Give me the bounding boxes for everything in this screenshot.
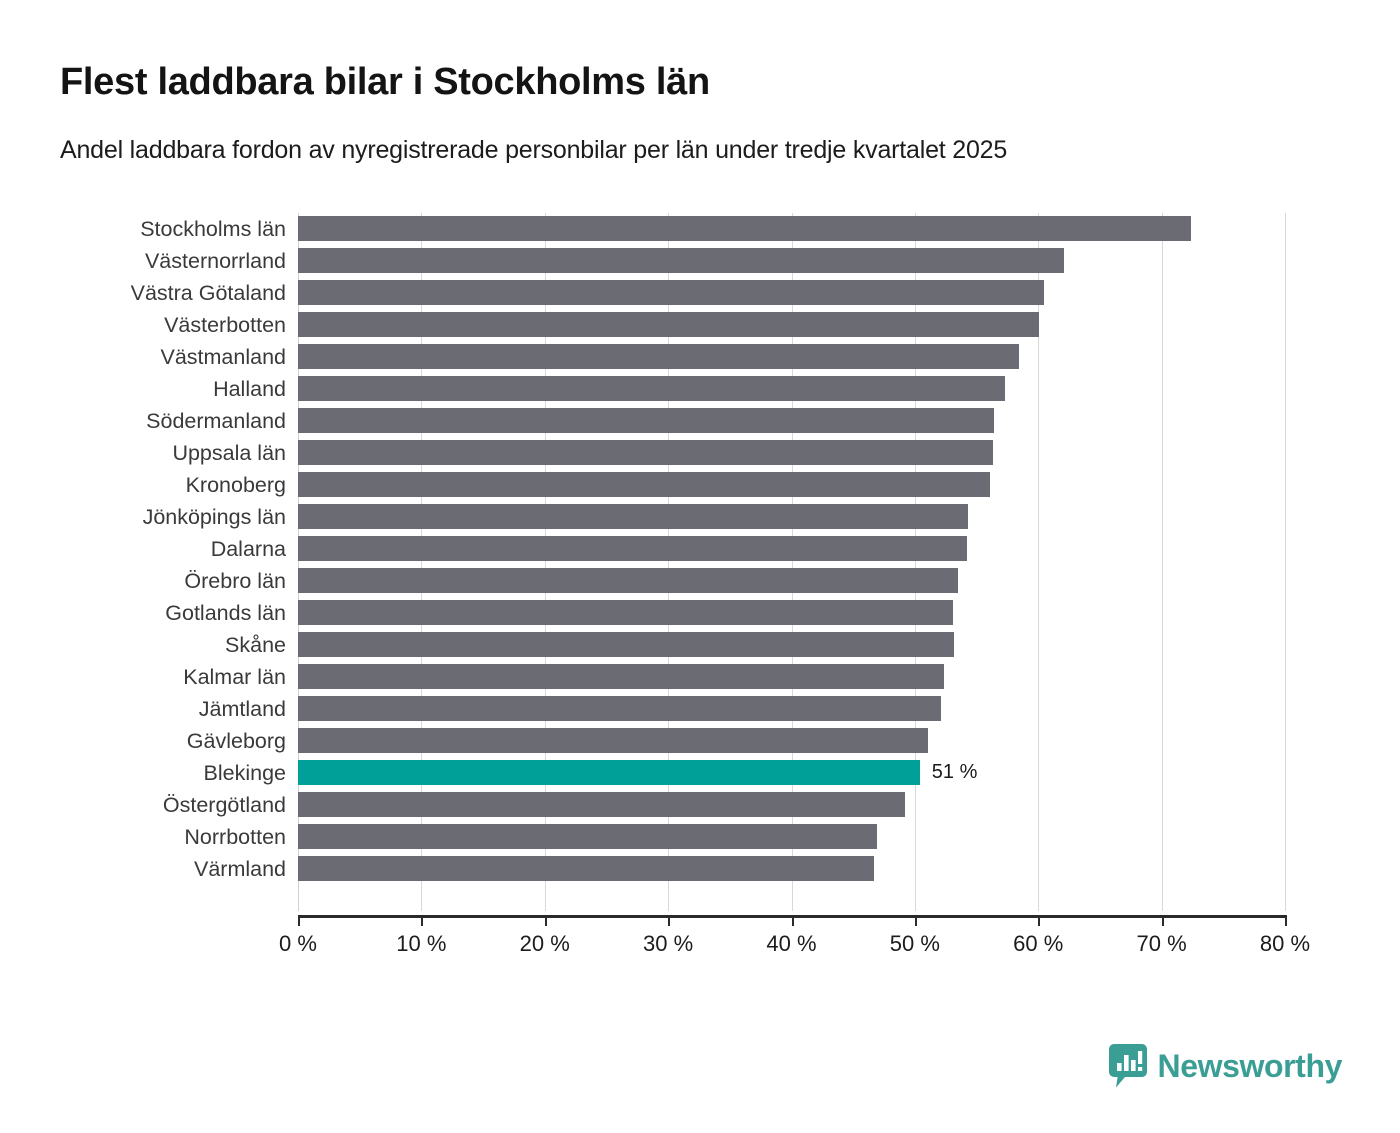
- logo-wordmark: Newsworthy: [1158, 1050, 1343, 1082]
- newsworthy-logo: Newsworthy: [1109, 1044, 1343, 1088]
- chart-bubble-icon: [1109, 1044, 1147, 1088]
- y-axis-tick-label: Kalmar län: [60, 661, 286, 693]
- bar-highlighted[interactable]: [298, 760, 920, 785]
- y-axis-tick-label: Jämtland: [60, 693, 286, 725]
- tick-mark: [668, 915, 670, 926]
- bar[interactable]: [298, 696, 941, 721]
- bar[interactable]: [298, 504, 968, 529]
- y-axis-tick-label: Gotlands län: [60, 597, 286, 629]
- bar-series: 51 %: [298, 213, 1285, 911]
- bar-row[interactable]: [298, 597, 1285, 629]
- y-axis-tick-label: Jönköpings län: [60, 501, 286, 533]
- bar-row[interactable]: [298, 309, 1285, 341]
- bar-row[interactable]: [298, 501, 1285, 533]
- bar-row[interactable]: [298, 693, 1285, 725]
- bar-row[interactable]: [298, 405, 1285, 437]
- bar-row[interactable]: [298, 469, 1285, 501]
- y-axis-tick-label: Uppsala län: [60, 437, 286, 469]
- y-axis-tick-label: Södermanland: [60, 405, 286, 437]
- page-title: Flest laddbara bilar i Stockholms län: [60, 62, 1350, 104]
- tick-mark: [1038, 915, 1040, 926]
- bar[interactable]: [298, 824, 877, 849]
- y-axis-tick-label: Skåne: [60, 629, 286, 661]
- x-axis-tick-label: 80 %: [1260, 931, 1310, 957]
- bar[interactable]: [298, 632, 954, 657]
- y-axis-tick-label: Västernorrland: [60, 245, 286, 277]
- bar-row[interactable]: [298, 853, 1285, 885]
- bar-row[interactable]: [298, 661, 1285, 693]
- x-axis-tick-label: 20 %: [520, 931, 570, 957]
- y-axis-tick-label: Värmland: [60, 853, 286, 885]
- bar-value-label: 51 %: [932, 760, 978, 785]
- gridline: [1285, 213, 1286, 911]
- x-axis-ticks: 0 %10 %20 %30 %40 %50 %60 %70 %80 %: [298, 915, 1285, 975]
- bar[interactable]: [298, 440, 993, 465]
- y-axis-tick-label: Örebro län: [60, 565, 286, 597]
- bar-row[interactable]: [298, 245, 1285, 277]
- bar-row[interactable]: [298, 725, 1285, 757]
- bar-row[interactable]: [298, 341, 1285, 373]
- bar[interactable]: [298, 856, 874, 881]
- bar[interactable]: [298, 376, 1005, 401]
- y-axis-tick-label: Halland: [60, 373, 286, 405]
- tick-mark: [792, 915, 794, 926]
- bar-row[interactable]: [298, 629, 1285, 661]
- bar[interactable]: [298, 568, 958, 593]
- tick-mark: [545, 915, 547, 926]
- y-axis-tick-label: Västmanland: [60, 341, 286, 373]
- y-axis-tick-label: Kronoberg: [60, 469, 286, 501]
- bar-row[interactable]: [298, 373, 1285, 405]
- y-axis-tick-label: Stockholms län: [60, 213, 286, 245]
- bar[interactable]: [298, 312, 1039, 337]
- y-axis-tick-label: Västra Götaland: [60, 277, 286, 309]
- bar[interactable]: [298, 472, 990, 497]
- y-axis-tick-label: Dalarna: [60, 533, 286, 565]
- y-axis-tick-label: Östergötland: [60, 789, 286, 821]
- x-axis-tick-label: 50 %: [890, 931, 940, 957]
- bar[interactable]: [298, 216, 1191, 241]
- bar-row[interactable]: [298, 789, 1285, 821]
- bar[interactable]: [298, 408, 994, 433]
- x-axis-tick-label: 60 %: [1013, 931, 1063, 957]
- bar-row[interactable]: [298, 533, 1285, 565]
- chart-plot-area: Stockholms länVästernorrlandVästra Götal…: [0, 213, 1400, 933]
- bar-row[interactable]: [298, 437, 1285, 469]
- tick-mark: [1285, 915, 1287, 926]
- x-axis-tick-label: 40 %: [766, 931, 816, 957]
- bar-row[interactable]: [298, 821, 1285, 853]
- bar-row[interactable]: 51 %: [298, 757, 1285, 789]
- chart-header: Flest laddbara bilar i Stockholms län An…: [60, 62, 1350, 165]
- bar[interactable]: [298, 792, 905, 817]
- y-axis-tick-label: Norrbotten: [60, 821, 286, 853]
- bar[interactable]: [298, 728, 928, 753]
- y-axis-tick-label: Västerbotten: [60, 309, 286, 341]
- x-axis-tick-label: 70 %: [1137, 931, 1187, 957]
- bar-row[interactable]: [298, 565, 1285, 597]
- x-axis-tick-label: 0 %: [279, 931, 317, 957]
- bar[interactable]: [298, 344, 1019, 369]
- tick-mark: [915, 915, 917, 926]
- bar-row[interactable]: [298, 213, 1285, 245]
- tick-mark: [298, 915, 300, 926]
- y-axis-tick-label: Gävleborg: [60, 725, 286, 757]
- bar[interactable]: [298, 536, 967, 561]
- bar[interactable]: [298, 248, 1064, 273]
- bar[interactable]: [298, 280, 1044, 305]
- tick-mark: [421, 915, 423, 926]
- x-axis-tick-label: 30 %: [643, 931, 693, 957]
- bar-row[interactable]: [298, 277, 1285, 309]
- y-axis-tick-label: Blekinge: [60, 757, 286, 789]
- chart-subtitle: Andel laddbara fordon av nyregistrerade …: [60, 104, 1350, 165]
- bar[interactable]: [298, 600, 953, 625]
- y-axis-category-labels: Stockholms länVästernorrlandVästra Götal…: [60, 213, 286, 885]
- bar[interactable]: [298, 664, 944, 689]
- x-axis-tick-label: 10 %: [396, 931, 446, 957]
- tick-mark: [1162, 915, 1164, 926]
